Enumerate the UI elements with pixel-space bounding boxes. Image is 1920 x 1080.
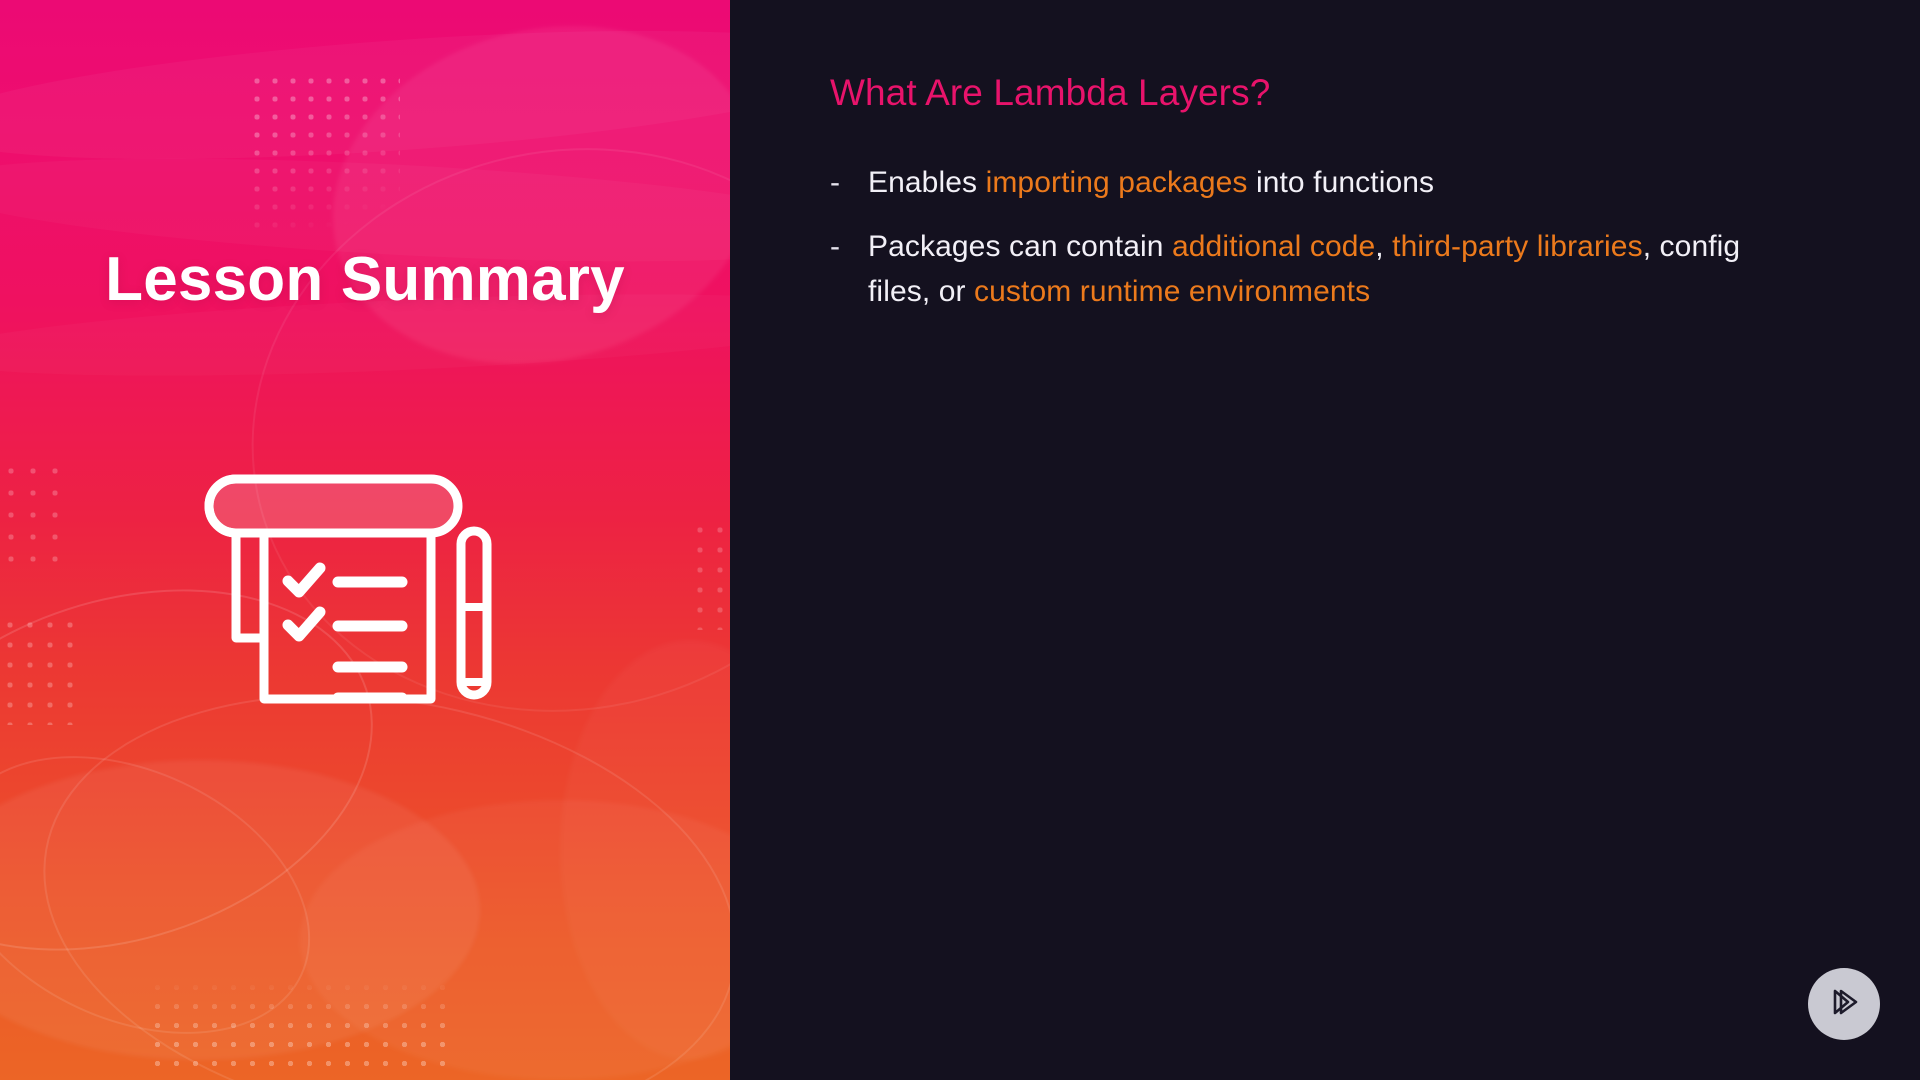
list-item-text: Enables importing packages into function… <box>868 160 1790 206</box>
lesson-summary-slide: Lesson Summary <box>0 0 1920 1080</box>
next-slide-button[interactable] <box>1808 968 1880 1040</box>
body-text: into functions <box>1248 166 1435 199</box>
list-item: -Packages can contain additional code, t… <box>830 224 1790 315</box>
content-panel: What Are Lambda Layers? -Enables importi… <box>730 0 1920 1080</box>
highlighted-term: third-party libraries <box>1392 230 1643 263</box>
page-title: What Are Lambda Layers? <box>830 72 1270 114</box>
list-item-text: Packages can contain additional code, th… <box>868 224 1790 315</box>
bullet-marker: - <box>830 224 868 270</box>
bullet-marker: - <box>830 160 868 206</box>
halftone-dot-pattern <box>0 615 80 725</box>
highlighted-term: importing packages <box>986 166 1248 199</box>
play-forward-icon <box>1826 984 1862 1025</box>
body-text: , <box>1375 230 1392 263</box>
body-text: Packages can contain <box>868 230 1172 263</box>
halftone-dot-pattern <box>0 460 60 570</box>
highlighted-term: additional code <box>1172 230 1375 263</box>
halftone-dot-pattern <box>690 520 730 630</box>
checklist-scroll-and-pen-icon <box>190 445 520 710</box>
body-text: Enables <box>868 166 986 199</box>
bullet-list: -Enables importing packages into functio… <box>830 160 1790 333</box>
list-item: -Enables importing packages into functio… <box>830 160 1790 206</box>
decorative-blob <box>295 0 730 410</box>
left-gradient-panel: Lesson Summary <box>0 0 730 1080</box>
highlighted-term: custom runtime environments <box>974 275 1370 308</box>
lesson-summary-title: Lesson Summary <box>0 245 730 314</box>
